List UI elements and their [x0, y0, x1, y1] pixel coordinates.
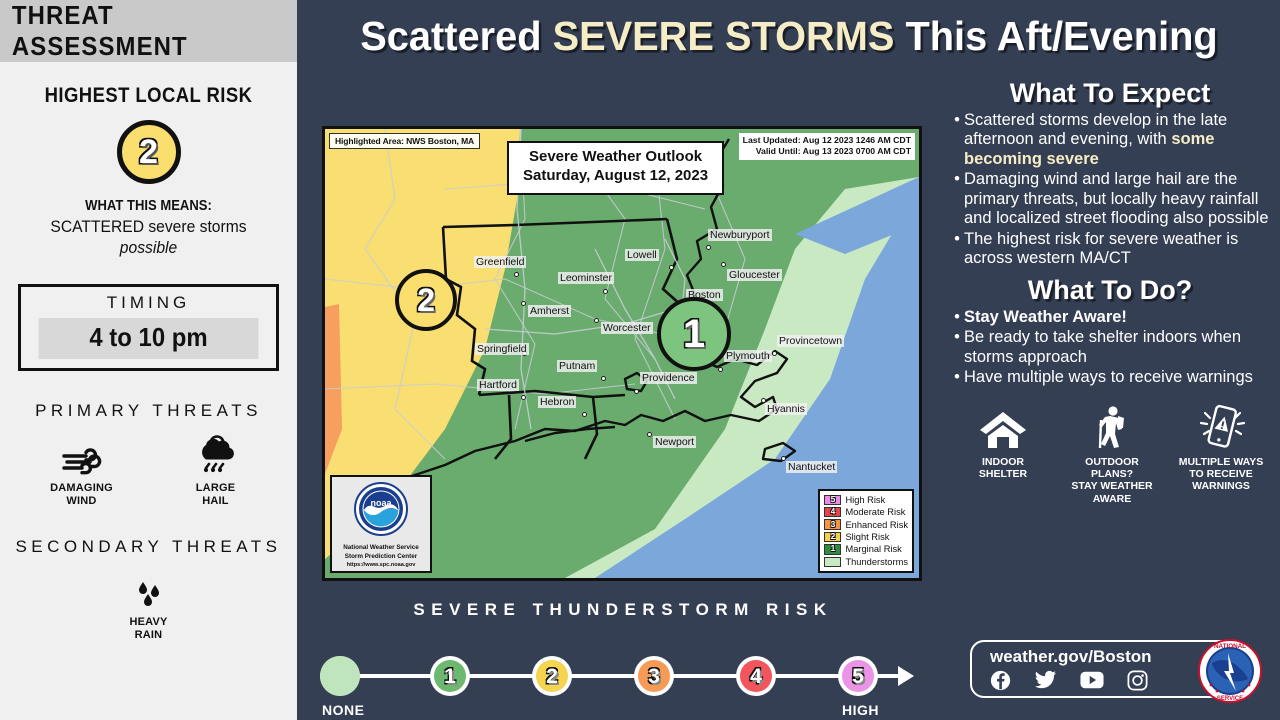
city-label: Lowell	[625, 249, 659, 261]
bullet-text: Stay Weather Aware!	[964, 308, 1272, 327]
scale-node[interactable]: 1	[430, 656, 470, 696]
city-label: Provincetown	[777, 335, 844, 347]
scale-axis-line	[320, 674, 904, 678]
legend-swatch: 4	[824, 507, 841, 518]
scale-node-value: 1	[434, 660, 466, 692]
sidebar-header: THREAT ASSESSMENT	[0, 0, 297, 62]
bullet-item: •Be ready to take shelter indoors when s…	[950, 328, 1272, 367]
highest-local-risk-label: HIGHEST LOCAL RISK	[18, 84, 279, 108]
threat-assessment-sidebar: THREAT ASSESSMENT HIGHEST LOCAL RISK 2 W…	[0, 0, 297, 720]
map-risk-badge-value: 1	[683, 314, 705, 354]
city-label: Worcester	[601, 322, 653, 334]
facebook-icon[interactable]	[990, 670, 1011, 691]
map-risk-badge: 2	[395, 269, 457, 331]
severe-risk-scale: SEVERE THUNDERSTORM RISK 12345 NONE HIGH	[300, 600, 940, 720]
youtube-icon[interactable]	[1080, 670, 1104, 690]
legend-label: Slight Risk	[845, 532, 889, 542]
scale-node-value: 5	[842, 660, 874, 692]
city-label: Amherst	[528, 305, 571, 317]
scale-title: SEVERE THUNDERSTORM RISK	[300, 600, 940, 620]
prep-item-indoor-shelter: INDOOR SHELTER	[954, 402, 1052, 506]
threat-label-line1: LARGE	[196, 482, 236, 494]
city-label: Newburyport	[708, 229, 772, 241]
primary-threats-heading: PRIMARY THREATS	[0, 401, 297, 421]
secondary-threats-row: HEAVY RAIN	[0, 569, 297, 641]
legend-swatch: 5	[824, 495, 841, 506]
timing-value: 4 to 10 pm	[39, 318, 259, 359]
threat-label-line1: HEAVY	[129, 616, 167, 628]
weather-gov-link[interactable]: weather.gov/Boston	[990, 647, 1152, 667]
city-label: Putnam	[557, 360, 597, 372]
legend-swatch	[824, 557, 841, 568]
svg-text:NATIONAL: NATIONAL	[1214, 643, 1246, 650]
city-marker-dot	[603, 289, 608, 294]
raindrops-icon	[105, 569, 193, 611]
noaa-spc-logo: noaa National Weather Service Storm Pred…	[330, 475, 432, 573]
scale-node-value: 4	[740, 660, 772, 692]
legend-row: 2Slight Risk	[824, 531, 908, 543]
scale-node[interactable]: 2	[532, 656, 572, 696]
city-label: Hebron	[538, 396, 576, 408]
bullet-item: •Have multiple ways to receive warnings	[950, 368, 1272, 387]
guidance-panel: What To Expect •Scattered storms develop…	[940, 78, 1280, 720]
hail-cloud-icon	[172, 435, 260, 477]
bullet-dot-icon: •	[950, 111, 964, 169]
city-label: Gloucester	[727, 269, 782, 281]
bullet-item: •Scattered storms develop in the late af…	[950, 111, 1272, 169]
map-valid-until: Valid Until: Aug 13 2023 0700 AM CDT	[743, 146, 911, 157]
bullet-text: Be ready to take shelter indoors when st…	[964, 328, 1272, 367]
bullet-emphasis: some becoming severe	[964, 130, 1214, 167]
prep-item-outdoor-plans: OUTDOOR PLANS? STAY WEATHER AWARE	[1063, 402, 1161, 506]
bullet-item: •Stay Weather Aware!	[950, 308, 1272, 327]
bullet-dot-icon: •	[950, 308, 964, 327]
scale-node-value: 2	[536, 660, 568, 692]
noaa-seal-icon: noaa	[353, 481, 409, 537]
scale-node[interactable]: 3	[634, 656, 674, 696]
preparedness-icons: INDOOR SHELTER OUTDOOR PLANS? STAY WEATH…	[954, 402, 1270, 506]
timing-box: TIMING 4 to 10 pm	[18, 284, 279, 371]
noaa-url[interactable]: https://www.spc.noaa.gov	[334, 562, 428, 568]
legend-row: 1Marginal Risk	[824, 543, 908, 555]
prep-label-line2: TO RECEIVE	[1189, 468, 1252, 480]
bullet-dot-icon: •	[950, 328, 964, 367]
what-to-expect-list: •Scattered storms develop in the late af…	[950, 111, 1272, 269]
prep-label: INDOOR SHELTER	[954, 456, 1052, 481]
hiker-icon	[1063, 402, 1161, 450]
legend-label: Moderate Risk	[845, 507, 905, 517]
city-marker-dot	[772, 351, 777, 356]
threat-label-line2: WIND	[66, 495, 96, 507]
timing-label: TIMING	[29, 293, 268, 313]
city-label: Leominster	[558, 272, 614, 284]
bullet-text: The highest risk for severe weather is a…	[964, 230, 1272, 269]
legend-row: 5High Risk	[824, 494, 908, 506]
city-label: Providence	[640, 372, 697, 384]
scale-node-value	[320, 656, 360, 696]
prep-label-line1: OUTDOOR PLANS?	[1085, 456, 1139, 480]
prep-label-line3: AWARE	[1093, 493, 1132, 505]
legend-swatch: 2	[824, 532, 841, 543]
map-title-box: Severe Weather Outlook Saturday, August …	[507, 141, 724, 195]
legend-label: Marginal Risk	[845, 544, 901, 554]
bullet-emphasis: Stay Weather Aware!	[964, 308, 1127, 326]
scale-node[interactable]: 4	[736, 656, 776, 696]
scale-track: 12345 NONE HIGH	[320, 656, 920, 696]
title-part-3: This Aft/Evening	[894, 13, 1217, 59]
prep-label: MULTIPLE WAYS TO RECEIVE WARNINGS	[1172, 456, 1270, 493]
city-marker-dot	[718, 367, 723, 372]
prep-label: OUTDOOR PLANS? STAY WEATHER AWARE	[1063, 456, 1161, 506]
bullet-dot-icon: •	[950, 230, 964, 269]
city-marker-dot	[514, 272, 519, 277]
noaa-line1: National Weather Service	[343, 544, 418, 551]
house-icon	[954, 402, 1052, 450]
bullet-text: Scattered storms develop in the late aft…	[964, 111, 1272, 169]
what-this-means-line1: SCATTERED severe storms	[12, 217, 285, 237]
threat-label-line2: HAIL	[202, 495, 228, 507]
map-risk-legend: 5High Risk4Moderate Risk3Enhanced Risk2S…	[818, 489, 914, 573]
highest-risk-badge: 2	[117, 120, 181, 184]
city-marker-dot	[634, 389, 639, 394]
legend-label: Thunderstorms	[845, 557, 908, 567]
prep-label-line2: SHELTER	[979, 468, 1027, 480]
city-label: Nantucket	[786, 461, 837, 473]
svg-text:noaa: noaa	[370, 498, 392, 508]
severe-weather-outlook-map[interactable]: Highlighted Area: NWS Boston, MA Severe …	[322, 126, 922, 581]
title-part-1: Scattered	[360, 13, 552, 59]
city-marker-dot	[721, 262, 726, 267]
city-label: Hartford	[477, 379, 519, 391]
svg-text:SERVICE: SERVICE	[1217, 696, 1243, 702]
threat-label: LARGE HAIL	[172, 482, 260, 507]
noaa-line2: Storm Prediction Center	[345, 553, 417, 560]
scale-caption-high: HIGH	[842, 702, 879, 718]
bullet-item: •The highest risk for severe weather is …	[950, 230, 1272, 269]
sidebar-header-title: THREAT ASSESSMENT	[12, 0, 285, 62]
legend-row: 3Enhanced Risk	[824, 518, 908, 530]
prep-label-line2: STAY WEATHER	[1071, 480, 1152, 492]
social-links	[990, 670, 1148, 691]
threat-item-large-hail: LARGE HAIL	[172, 435, 260, 507]
scale-caption-none: NONE	[322, 702, 364, 718]
map-title-line2: Saturday, August 12, 2023	[523, 167, 708, 186]
primary-threats-row: DAMAGING WIND LARGE HAIL	[0, 435, 297, 507]
nws-seal-icon: NATIONAL SERVICE	[1198, 639, 1262, 703]
map-last-updated: Last Updated: Aug 12 2023 1246 AM CDT	[743, 135, 911, 146]
city-marker-dot	[521, 301, 526, 306]
map-risk-badge-value: 2	[417, 284, 435, 316]
threat-label-line1: DAMAGING	[50, 482, 113, 494]
what-to-do-heading: What To Do?	[940, 275, 1280, 306]
noaa-caption: National Weather Service Storm Predictio…	[334, 544, 428, 561]
threat-item-heavy-rain: HEAVY RAIN	[105, 569, 193, 641]
page-title: Scattered SEVERE STORMS This Aft/Evening	[360, 13, 1217, 60]
threat-label: HEAVY RAIN	[105, 616, 193, 641]
city-marker-dot	[582, 412, 587, 417]
bullet-item: •Damaging wind and large hail are the pr…	[950, 170, 1272, 228]
scale-arrow-icon	[898, 666, 914, 686]
prep-item-multiple-ways: MULTIPLE WAYS TO RECEIVE WARNINGS	[1172, 402, 1270, 506]
city-label: Newport	[653, 436, 696, 448]
city-marker-dot	[594, 318, 599, 323]
highlighted-area-label: Highlighted Area: NWS Boston, MA	[329, 133, 480, 149]
legend-swatch: 3	[824, 519, 841, 530]
bullet-text: Damaging wind and large hail are the pri…	[964, 170, 1272, 228]
bullet-dot-icon: •	[950, 368, 964, 387]
prep-label-line1: INDOOR	[982, 456, 1024, 468]
bullet-text: Have multiple ways to receive warnings	[964, 368, 1272, 387]
what-to-expect-heading: What To Expect	[940, 78, 1280, 109]
prep-label-line3: WARNINGS	[1192, 480, 1250, 492]
map-title-line1: Severe Weather Outlook	[523, 148, 708, 167]
city-label: Springfield	[475, 343, 529, 355]
what-this-means-line2: possible	[12, 238, 285, 258]
city-label: Greenfield	[474, 256, 526, 268]
legend-swatch: 1	[824, 544, 841, 555]
map-timestamp-box: Last Updated: Aug 12 2023 1246 AM CDT Va…	[739, 133, 915, 160]
city-label: Hyannis	[765, 403, 807, 415]
city-label: Plymouth	[724, 350, 772, 362]
threat-label-line2: RAIN	[135, 629, 163, 641]
legend-row: Thunderstorms	[824, 556, 908, 568]
city-marker-dot	[601, 376, 606, 381]
twitter-icon[interactable]	[1034, 670, 1057, 691]
footer-contact-pill: weather.gov/Boston	[970, 640, 1248, 698]
headline-banner: Scattered SEVERE STORMS This Aft/Evening	[297, 0, 1280, 72]
city-marker-dot	[521, 395, 526, 400]
risk-circle-container: 2	[0, 120, 297, 184]
secondary-threats-heading: SECONDARY THREATS	[0, 537, 297, 557]
legend-label: High Risk	[845, 495, 885, 505]
bullet-dot-icon: •	[950, 170, 964, 228]
scale-node-value: 3	[638, 660, 670, 692]
what-to-do-list: •Stay Weather Aware!•Be ready to take sh…	[950, 308, 1272, 388]
city-marker-dot	[706, 245, 711, 250]
scale-node[interactable]	[320, 656, 360, 696]
legend-row: 4Moderate Risk	[824, 506, 908, 518]
scale-node[interactable]: 5	[838, 656, 878, 696]
city-marker-dot	[669, 265, 674, 270]
prep-label-line1: MULTIPLE WAYS	[1179, 456, 1264, 468]
instagram-icon[interactable]	[1127, 670, 1148, 691]
wind-icon	[38, 435, 126, 477]
title-part-2: SEVERE STORMS	[552, 13, 894, 59]
map-risk-badge: 1	[657, 297, 731, 371]
city-marker-dot	[647, 432, 652, 437]
threat-label: DAMAGING WIND	[38, 482, 126, 507]
what-this-means-label: WHAT THIS MEANS:	[15, 198, 282, 214]
threat-item-damaging-wind: DAMAGING WIND	[38, 435, 126, 507]
phone-alert-icon	[1172, 402, 1270, 450]
highest-risk-value: 2	[139, 135, 158, 169]
legend-label: Enhanced Risk	[845, 520, 908, 530]
